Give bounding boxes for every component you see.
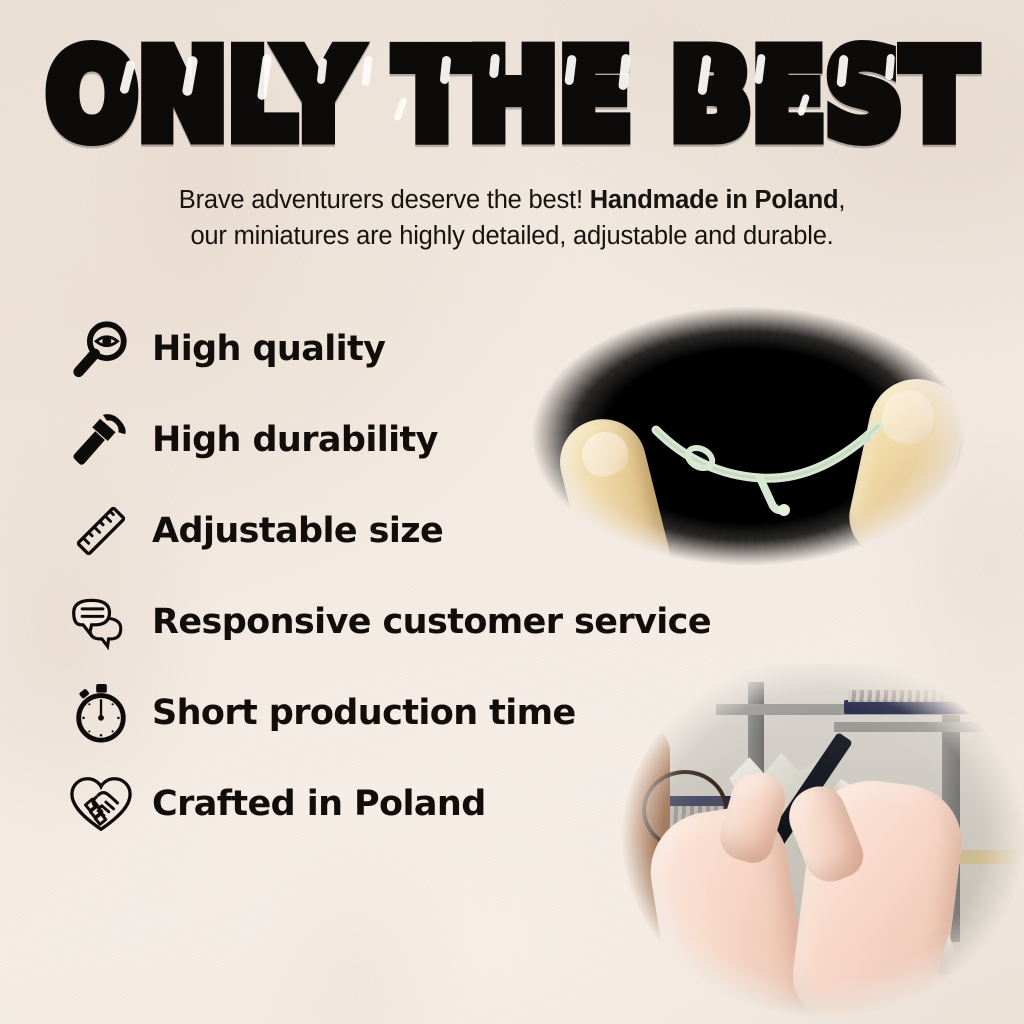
ruler-icon (62, 492, 140, 570)
feature-label: High durability (152, 420, 438, 460)
bendable-miniature-part (638, 406, 898, 526)
subtitle-line-2: our miniatures are highly detailed, adju… (0, 218, 1024, 254)
subtitle: Brave adventurers deserve the best! Hand… (0, 182, 1024, 254)
shelf-middle (834, 722, 1020, 732)
handshake-heart-icon (62, 765, 140, 843)
miniature-parts-top (848, 690, 988, 702)
subtitle-lead: Brave adventurers deserve the best! (179, 186, 590, 214)
subtitle-tail: , (838, 186, 845, 214)
speech-bubbles-icon (62, 583, 140, 661)
miniature-tray-top (844, 700, 994, 714)
feature-label: Crafted in Poland (152, 784, 486, 824)
subtitle-line-1: Brave adventurers deserve the best! Hand… (0, 182, 1024, 218)
feature-row-responsive-customer-service: Responsive customer service (62, 576, 762, 667)
subtitle-bold-phrase: Handmade in Poland (590, 186, 839, 214)
feature-label: Responsive customer service (152, 602, 711, 642)
painting-workshop-photo (606, 664, 1024, 1024)
page-title: ONLY THE BEST (47, 34, 977, 157)
feature-label: High quality (152, 329, 385, 369)
feature-label: Short production time (152, 693, 576, 733)
hammer-icon (62, 401, 140, 479)
magnifier-eye-icon (62, 310, 140, 388)
feature-label: Adjustable size (152, 511, 443, 551)
title-area: ONLY THE BEST (0, 34, 1024, 140)
stopwatch-icon (62, 674, 140, 752)
flexible-miniature-photo (508, 286, 988, 586)
promo-poster: ONLY THE BEST Brave adventurers deserve … (0, 0, 1024, 1024)
